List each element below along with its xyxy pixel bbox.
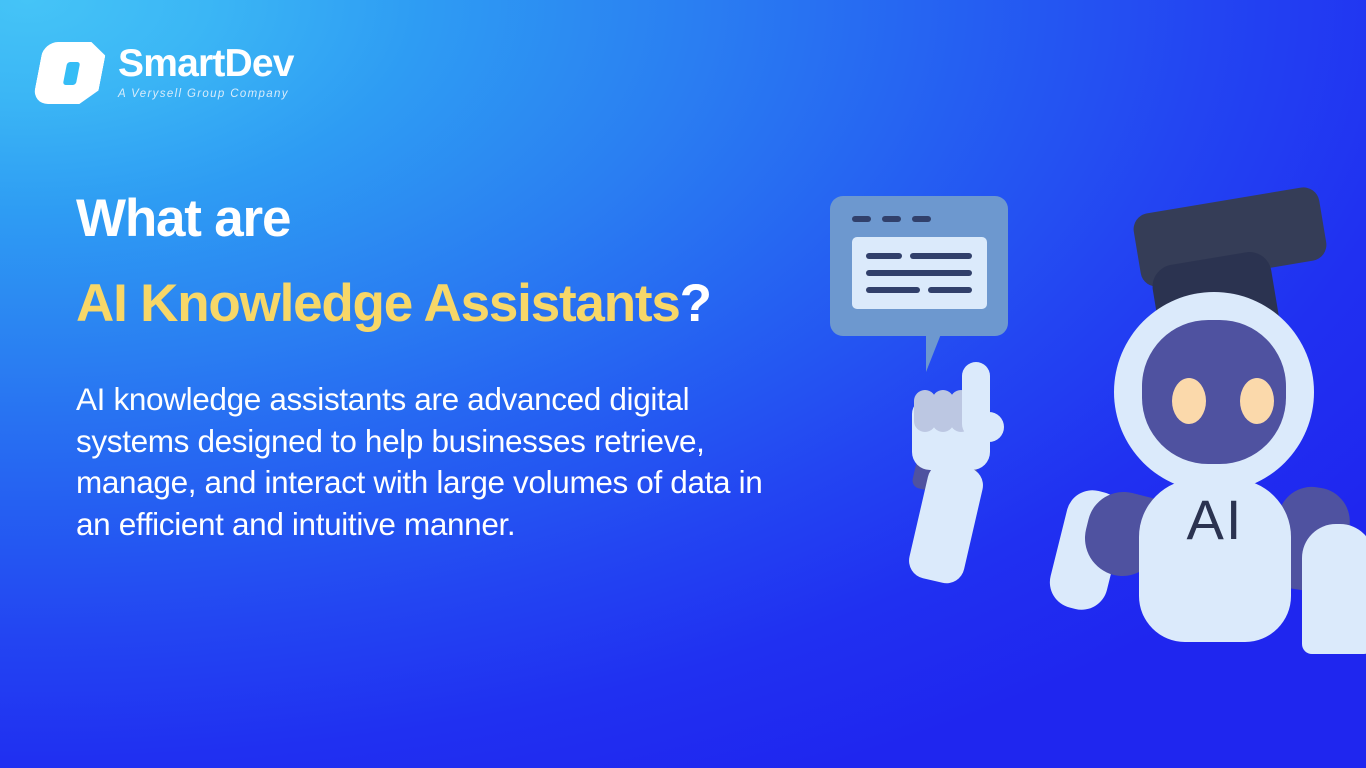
hero-illustration: AI [820, 180, 1350, 660]
robot-ai-badge: AI [1139, 492, 1291, 548]
brand-tagline: A Verysell Group Company [118, 88, 294, 100]
headline-highlight: AI Knowledge Assistants [76, 274, 680, 333]
brand-name: SmartDev [118, 44, 294, 84]
brand-logo-text: SmartDev A Verysell Group Company [118, 40, 294, 100]
slide-canvas: SmartDev A Verysell Group Company What a… [0, 0, 1366, 768]
robot-eye-right [1240, 378, 1274, 424]
headline-question-mark: ? [680, 274, 711, 333]
brand-logo[interactable]: SmartDev A Verysell Group Company [38, 40, 294, 104]
headline-line-2: AI Knowledge Assistants? [76, 277, 816, 330]
robot-right-forearm [1302, 524, 1366, 654]
body-paragraph: AI knowledge assistants are advanced dig… [76, 379, 786, 545]
smartdev-d-mark-icon [38, 42, 102, 104]
copy-column: What are AI Knowledge Assistants? AI kno… [76, 192, 816, 545]
headline-line-1: What are [76, 192, 816, 245]
robot-eye-left [1172, 378, 1206, 424]
robot-character: AI [910, 192, 1340, 662]
